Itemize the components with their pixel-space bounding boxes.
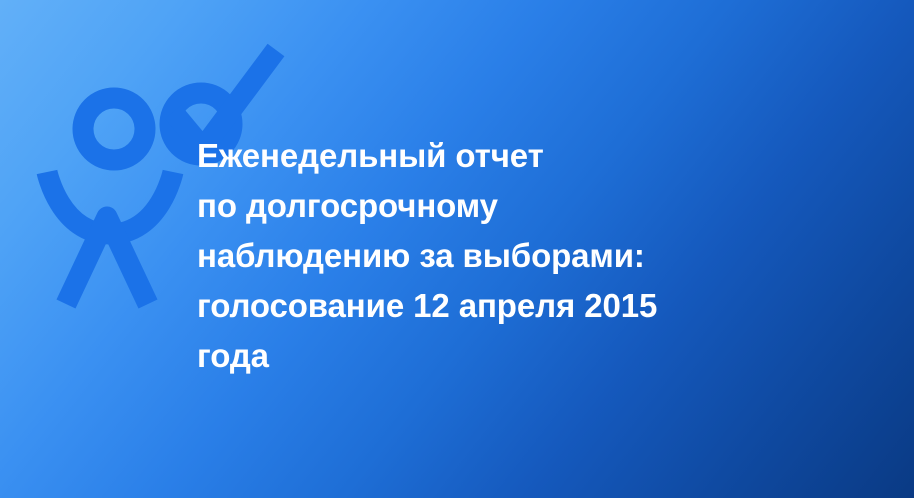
page-title-line-2: по долгосрочному [197,181,757,231]
page-title-line-5: года [197,331,757,381]
page-title-line-3: наблюдению за выборами: [197,231,757,281]
page-title: Еженедельный отчет по долгосрочному набл… [197,131,757,381]
logo-left-ring [83,98,145,160]
page-title-line-4: голосование 12 апреля 2015 [197,281,757,331]
logo-legs-shape [66,217,148,304]
logo-arms-curve [47,172,173,234]
report-cover-banner: Еженедельный отчет по долгосрочному набл… [0,0,914,498]
page-title-line-1: Еженедельный отчет [197,131,757,181]
